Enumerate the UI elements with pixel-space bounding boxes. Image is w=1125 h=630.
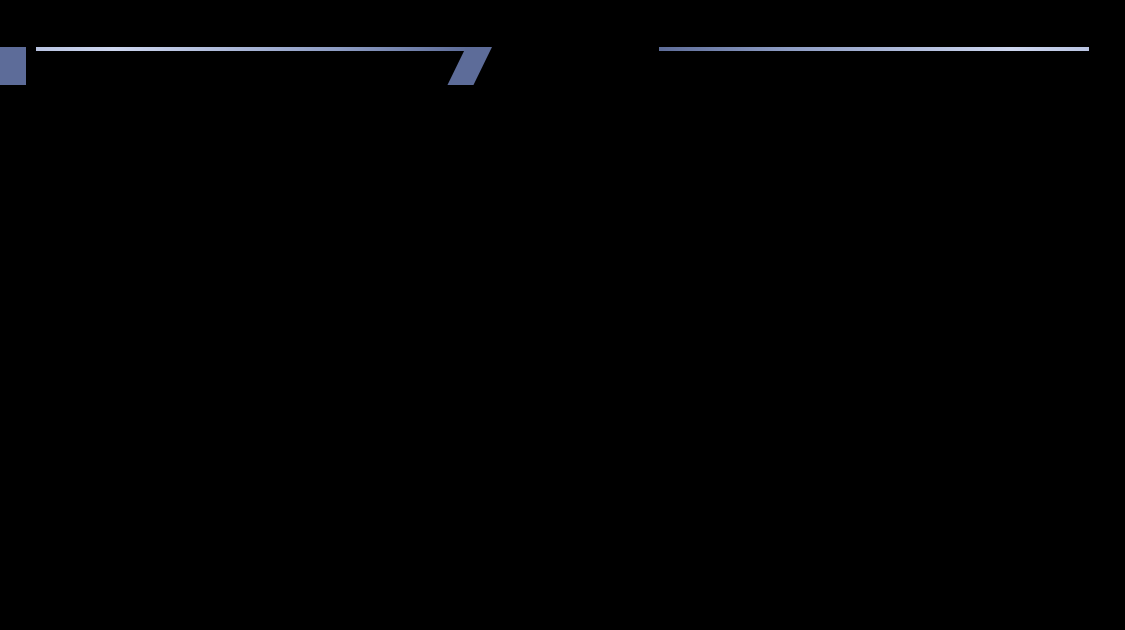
promo-banner: 优质服务 GOOD SERVICE ¥ 秒速存款 出款最快3秒完成 xyxy=(0,0,1125,630)
header: 优质服务 GOOD SERVICE xyxy=(0,0,1125,148)
header-slash-left-icon xyxy=(447,47,492,85)
card-text: 原生APP 苹果安卓原生APP + 手机网络 + 24小时客服 xyxy=(0,162,1125,210)
page-subtitle: GOOD SERVICE xyxy=(0,24,1125,42)
header-rule-left xyxy=(36,47,466,51)
card-title: 原生APP xyxy=(0,162,1125,186)
header-rule-right xyxy=(659,47,1089,51)
feature-card-native-app[interactable]: 原生APP 苹果安卓原生APP + 手机网络 + 24小时客服 xyxy=(0,162,1125,210)
card-description: 苹果安卓原生APP + 手机网络 + 24小时客服 xyxy=(0,186,1125,210)
header-slash-right-icon xyxy=(0,47,26,85)
page-title: 优质服务 xyxy=(0,0,1125,24)
